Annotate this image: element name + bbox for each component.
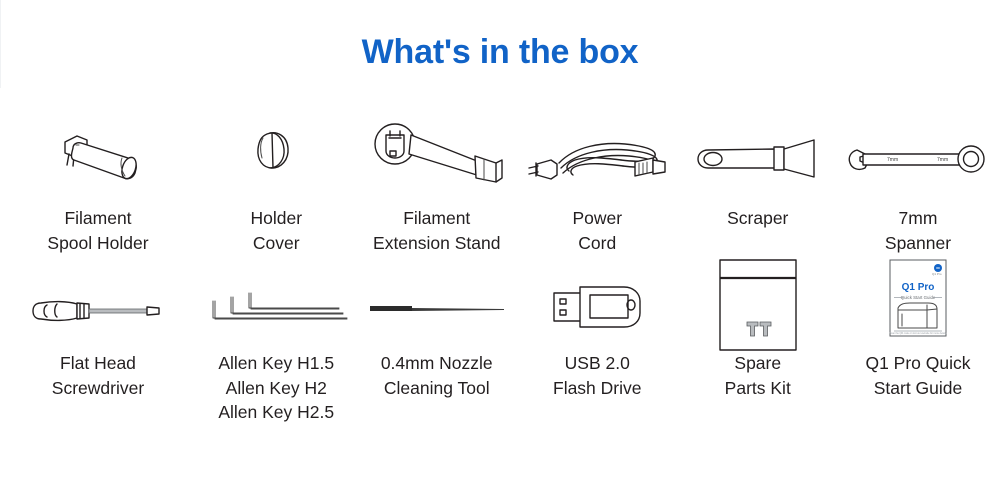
- item-label: Q1 Pro Quick Start Guide: [865, 351, 970, 400]
- item-label: Flat Head Screwdriver: [52, 351, 144, 400]
- item-spare-parts-kit[interactable]: Spare Parts Kit: [678, 265, 839, 435]
- item-power-cord[interactable]: Power Cord: [517, 110, 678, 265]
- guide-cover-subtitle: Quick Start Guide: [901, 295, 936, 300]
- svg-text:Q1 Pro: Q1 Pro: [932, 272, 942, 276]
- screwdriver-icon: [0, 265, 196, 351]
- item-holder-cover[interactable]: Holder Cover: [196, 110, 357, 265]
- svg-text:Scan the QR code or visit our: Scan the QR code or visit our website fo…: [889, 332, 947, 335]
- item-label: Holder Cover: [250, 206, 302, 255]
- spanner-icon: 7mm 7mm: [838, 110, 998, 206]
- items-row-1: Filament Spool Holder Holder Cover: [0, 110, 1000, 265]
- item-allen-keys[interactable]: Allen Key H1.5 Allen Key H2 Allen Key H2…: [196, 265, 357, 435]
- holder-cover-icon: [196, 110, 357, 206]
- items-row-2: Flat Head Screwdriver Allen Key H1.5 All…: [0, 265, 1000, 435]
- power-cord-icon: [517, 110, 678, 206]
- item-label: Filament Extension Stand: [373, 206, 500, 255]
- nozzle-cleaning-needle-icon: [357, 265, 518, 351]
- filament-extension-stand-icon: [357, 110, 518, 206]
- usb-flash-drive-icon: [517, 265, 678, 351]
- item-spanner[interactable]: 7mm 7mm 7mm Spanner: [838, 110, 998, 265]
- item-label: USB 2.0 Flash Drive: [553, 351, 642, 400]
- filament-spool-holder-icon: [0, 110, 196, 206]
- item-nozzle-cleaning-tool[interactable]: 0.4mm Nozzle Cleaning Tool: [357, 265, 518, 435]
- item-filament-extension-stand[interactable]: Filament Extension Stand: [357, 110, 518, 265]
- item-usb-flash-drive[interactable]: USB 2.0 Flash Drive: [517, 265, 678, 435]
- items-grid: Filament Spool Holder Holder Cover: [0, 110, 1000, 435]
- guide-cover-title: Q1 Pro: [902, 282, 935, 293]
- spare-parts-bag-icon: [678, 265, 839, 351]
- item-flat-head-screwdriver[interactable]: Flat Head Screwdriver: [0, 265, 196, 435]
- spanner-marking-left: 7mm: [887, 157, 898, 163]
- scraper-icon: [678, 110, 839, 206]
- page-title: What's in the box: [0, 33, 1000, 72]
- item-scraper[interactable]: Scraper: [678, 110, 839, 265]
- item-label: Allen Key H1.5 Allen Key H2 Allen Key H2…: [218, 351, 334, 425]
- item-label: Scraper: [727, 206, 788, 231]
- item-label: Spare Parts Kit: [725, 351, 791, 400]
- item-filament-spool-holder[interactable]: Filament Spool Holder: [0, 110, 196, 265]
- allen-key-icon: [196, 265, 357, 351]
- spanner-marking-right: 7mm: [937, 157, 948, 163]
- item-label: Power Cord: [572, 206, 622, 255]
- item-quick-start-guide[interactable]: Q1 Pro Q1 Pro Quick Start Guide Scan the…: [838, 265, 998, 435]
- item-label: 7mm Spanner: [885, 206, 951, 255]
- item-label: Filament Spool Holder: [47, 206, 148, 255]
- whats-in-the-box-page: What's in the box Filament Spool Holder: [0, 0, 1000, 503]
- item-label: 0.4mm Nozzle Cleaning Tool: [381, 351, 493, 400]
- quick-start-guide-booklet-icon: Q1 Pro Q1 Pro Quick Start Guide Scan the…: [838, 265, 998, 351]
